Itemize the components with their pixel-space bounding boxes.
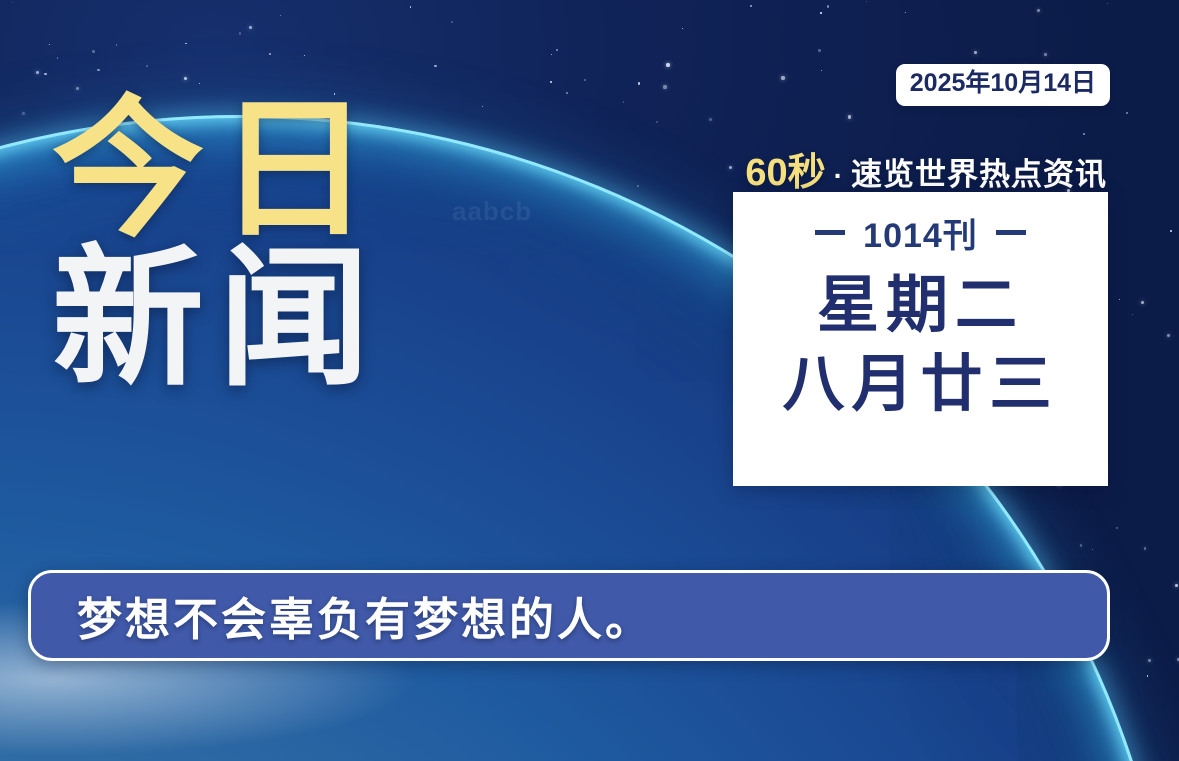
quote-text: 梦想不会辜负有梦想的人。 xyxy=(77,583,653,648)
issue-number: 1014刊 xyxy=(863,208,978,257)
title-line-today: 今日 xyxy=(52,92,384,247)
issue-dash-left-icon xyxy=(815,230,845,235)
info-card: 1014刊 星期二 八月廿三 xyxy=(733,192,1108,486)
slogan-description: 速览世界热点资讯 xyxy=(851,149,1107,194)
news-poster: aabcb 今日 新闻 2025年10月14日 60秒 · 速览世界热点资讯 1… xyxy=(0,0,1179,761)
title-line-news: 新闻 xyxy=(52,241,384,396)
watermark-text: aabcb xyxy=(452,196,532,227)
weekday-label: 星期二 xyxy=(817,273,1024,338)
slogan-duration: 60秒 xyxy=(745,141,825,196)
slogan-separator-dot: · xyxy=(830,160,847,192)
date-badge: 2025年10月14日 xyxy=(896,64,1110,106)
slogan-line: 60秒 · 速览世界热点资讯 xyxy=(745,141,1107,196)
quote-bar: 梦想不会辜负有梦想的人。 xyxy=(28,570,1110,661)
lunar-date-label: 八月廿三 xyxy=(782,352,1058,417)
issue-dash-right-icon xyxy=(996,230,1026,235)
poster-title: 今日 新闻 xyxy=(52,92,384,396)
issue-row: 1014刊 xyxy=(815,208,1026,257)
